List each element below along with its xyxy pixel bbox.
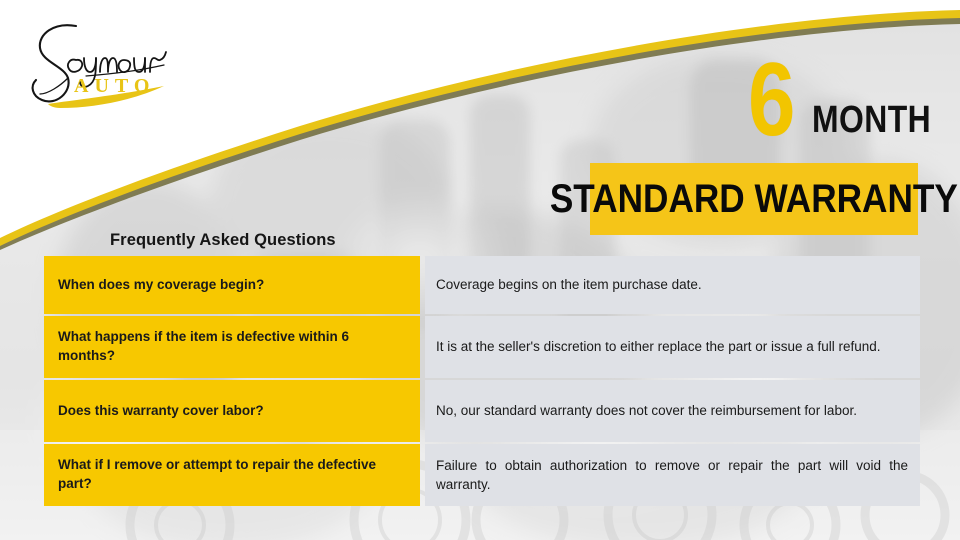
faq-answer-cell: No, our standard warranty does not cover… [425,380,920,442]
faq-question-cell: Does this warranty cover labor? [44,380,420,442]
faq-answer-text: Failure to obtain authorization to remov… [436,456,908,494]
standard-warranty-label: STANDARD WARRANTY [550,179,958,219]
warranty-duration-unit: MONTH [812,101,931,139]
table-row: What if I remove or attempt to repair th… [44,444,920,506]
seymour-auto-logo: AUTO [14,16,204,108]
faq-question-text: What if I remove or attempt to repair th… [58,456,406,493]
faq-answer-text: No, our standard warranty does not cover… [436,401,908,420]
faq-question-cell: What happens if the item is defective wi… [44,316,420,378]
standard-warranty-banner: STANDARD WARRANTY [590,163,918,235]
faq-answer-cell: Failure to obtain authorization to remov… [425,444,920,506]
warranty-slide: AUTO 6 MONTH STANDARD WARRANTY Frequentl… [0,0,960,540]
faq-answer-cell: It is at the seller's discretion to eith… [425,316,920,378]
faq-table: When does my coverage begin? Coverage be… [44,256,920,508]
faq-answer-text: Coverage begins on the item purchase dat… [436,275,908,294]
table-row: Does this warranty cover labor? No, our … [44,380,920,442]
faq-question-cell: What if I remove or attempt to repair th… [44,444,420,506]
table-row: When does my coverage begin? Coverage be… [44,256,920,314]
warranty-duration-number: 6 [748,48,794,152]
faq-answer-cell: Coverage begins on the item purchase dat… [425,256,920,314]
faq-question-text: When does my coverage begin? [58,276,264,295]
faq-question-text: Does this warranty cover labor? [58,402,264,421]
faq-question-cell: When does my coverage begin? [44,256,420,314]
faq-answer-text: It is at the seller's discretion to eith… [436,337,908,356]
faq-heading: Frequently Asked Questions [110,231,336,250]
faq-question-text: What happens if the item is defective wi… [58,328,406,365]
table-row: What happens if the item is defective wi… [44,316,920,378]
